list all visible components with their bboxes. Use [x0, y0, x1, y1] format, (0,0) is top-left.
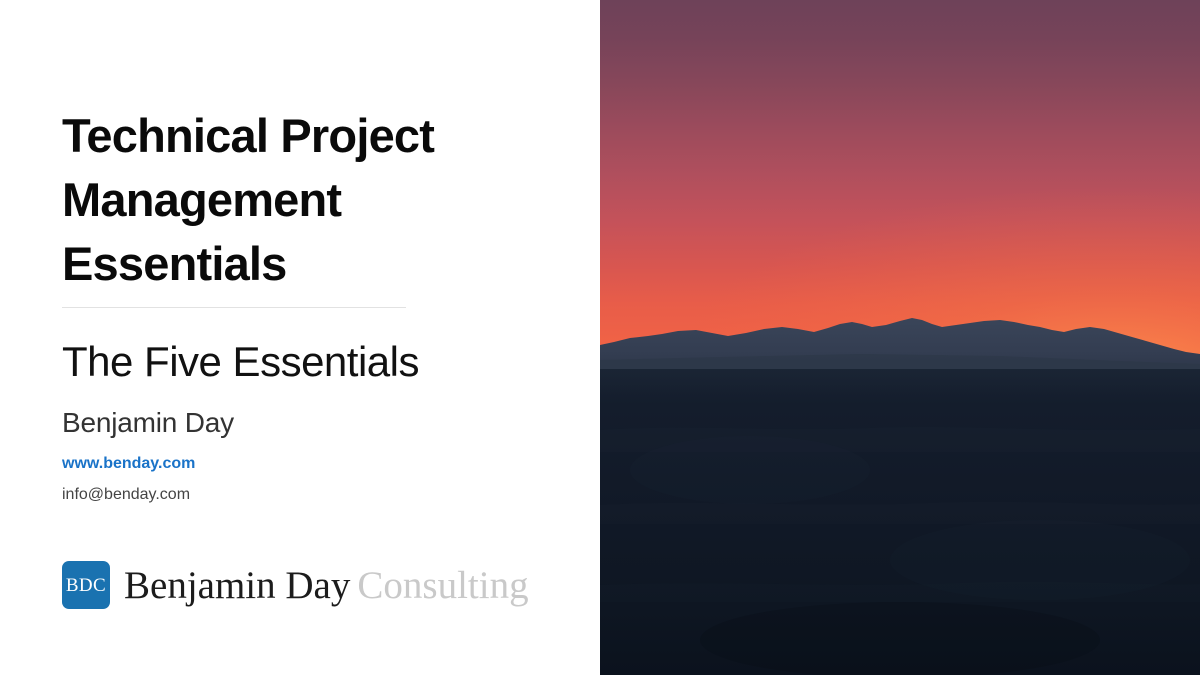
sunset-photo-graphic	[600, 0, 1200, 675]
title-content-panel: Technical Project Management Essentials …	[0, 0, 600, 675]
slide-subtitle: The Five Essentials	[62, 335, 419, 389]
page-title: Technical Project Management Essentials	[62, 104, 532, 296]
presentation-title-slide: Technical Project Management Essentials …	[0, 0, 1200, 675]
bdc-logo-icon: BDC	[62, 561, 110, 609]
title-divider	[62, 307, 406, 308]
email-address: info@benday.com	[62, 484, 190, 506]
author-name: Benjamin Day	[62, 404, 234, 442]
website-link[interactable]: www.benday.com	[62, 453, 195, 475]
logo-wordmark: Benjamin DayConsulting	[124, 566, 529, 605]
logo-word-secondary: Consulting	[357, 564, 528, 607]
sunset-photo	[600, 0, 1200, 675]
title-block: Technical Project Management Essentials	[62, 104, 532, 296]
company-logo: BDC Benjamin DayConsulting	[62, 558, 529, 612]
logo-mark-text: BDC	[66, 576, 106, 595]
logo-word-primary: Benjamin Day	[124, 564, 350, 607]
